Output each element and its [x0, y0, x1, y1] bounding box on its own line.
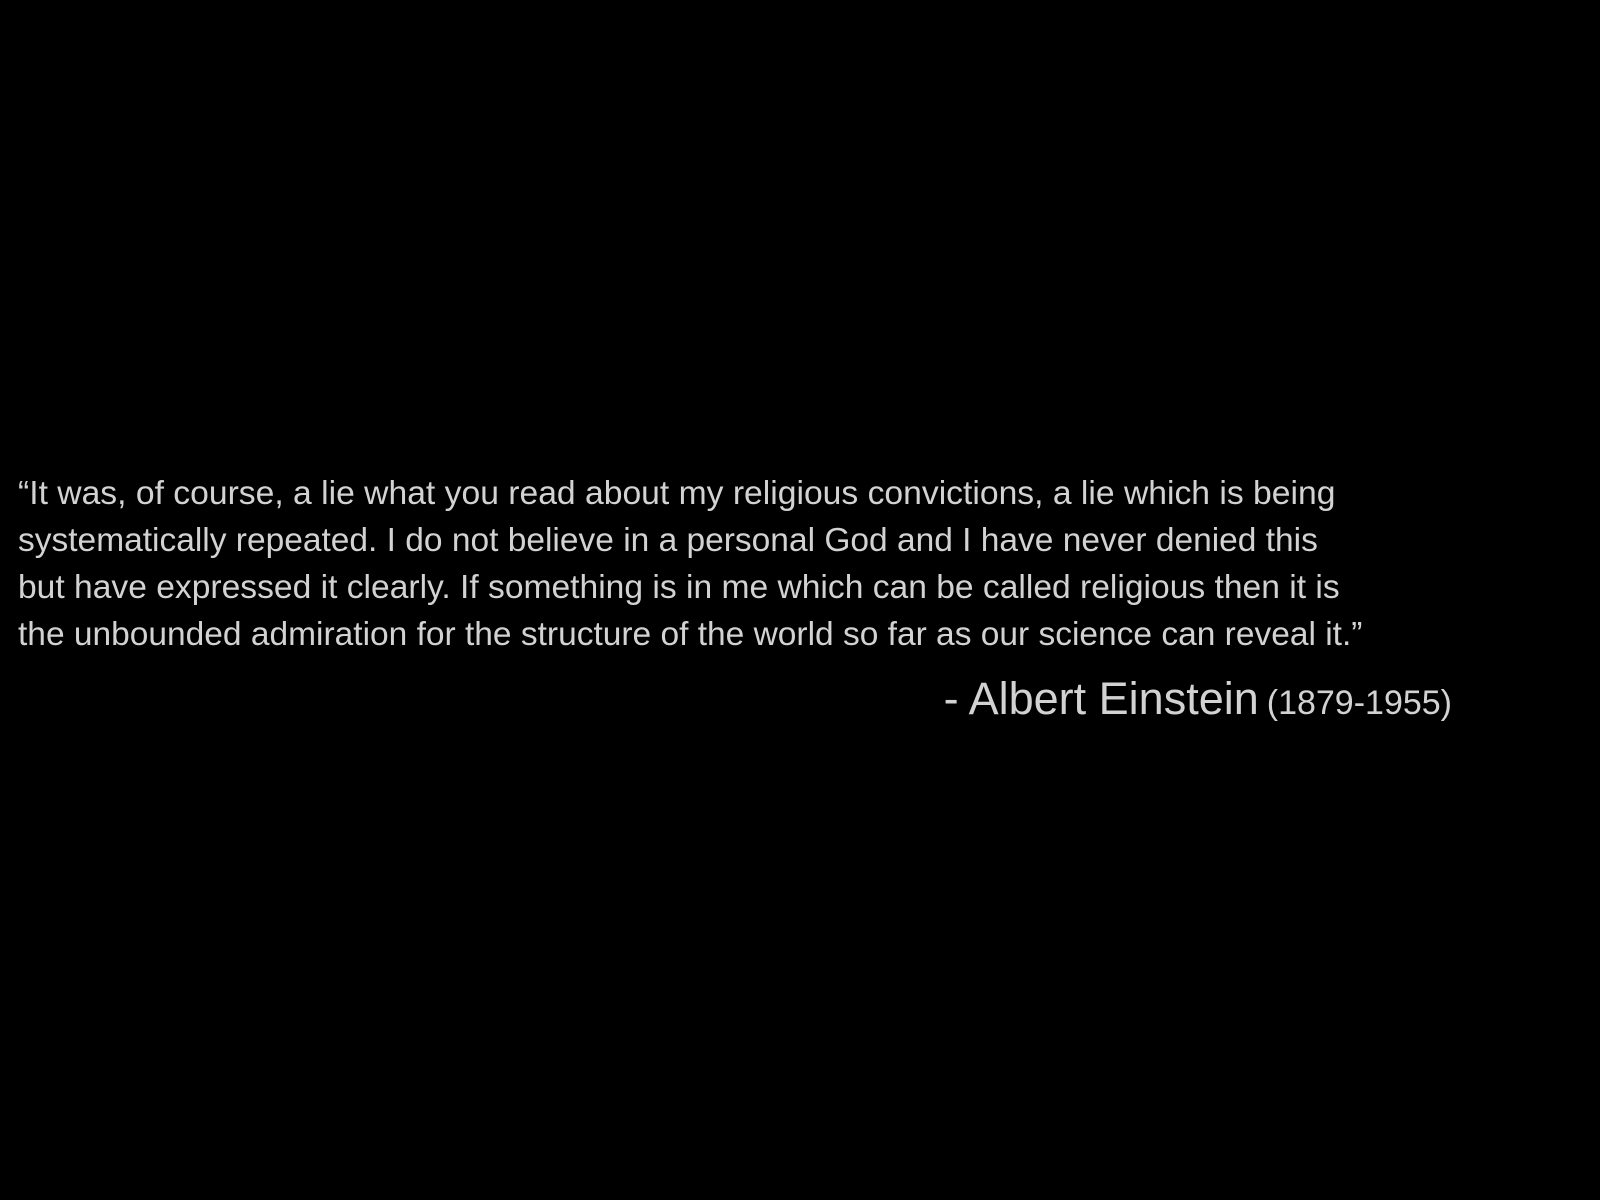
quote-line-1: “It was, of course, a lie what you read …	[18, 470, 1588, 517]
quote-line-4: the unbounded admiration for the structu…	[18, 611, 1580, 658]
attribution-author-dates: (1879-1955)	[1267, 684, 1452, 722]
wallpaper-canvas: “It was, of course, a lie what you read …	[0, 0, 1600, 1200]
attribution-author-name: - Albert Einstein	[944, 673, 1259, 724]
attribution: - Albert Einstein(1879-1955)	[0, 668, 1452, 734]
quote-block: “It was, of course, a lie what you read …	[18, 470, 1580, 658]
quote-line-3: but have expressed it clearly. If someth…	[18, 564, 1585, 611]
quote-line-2: systematically repeated. I do not believ…	[18, 517, 1580, 564]
